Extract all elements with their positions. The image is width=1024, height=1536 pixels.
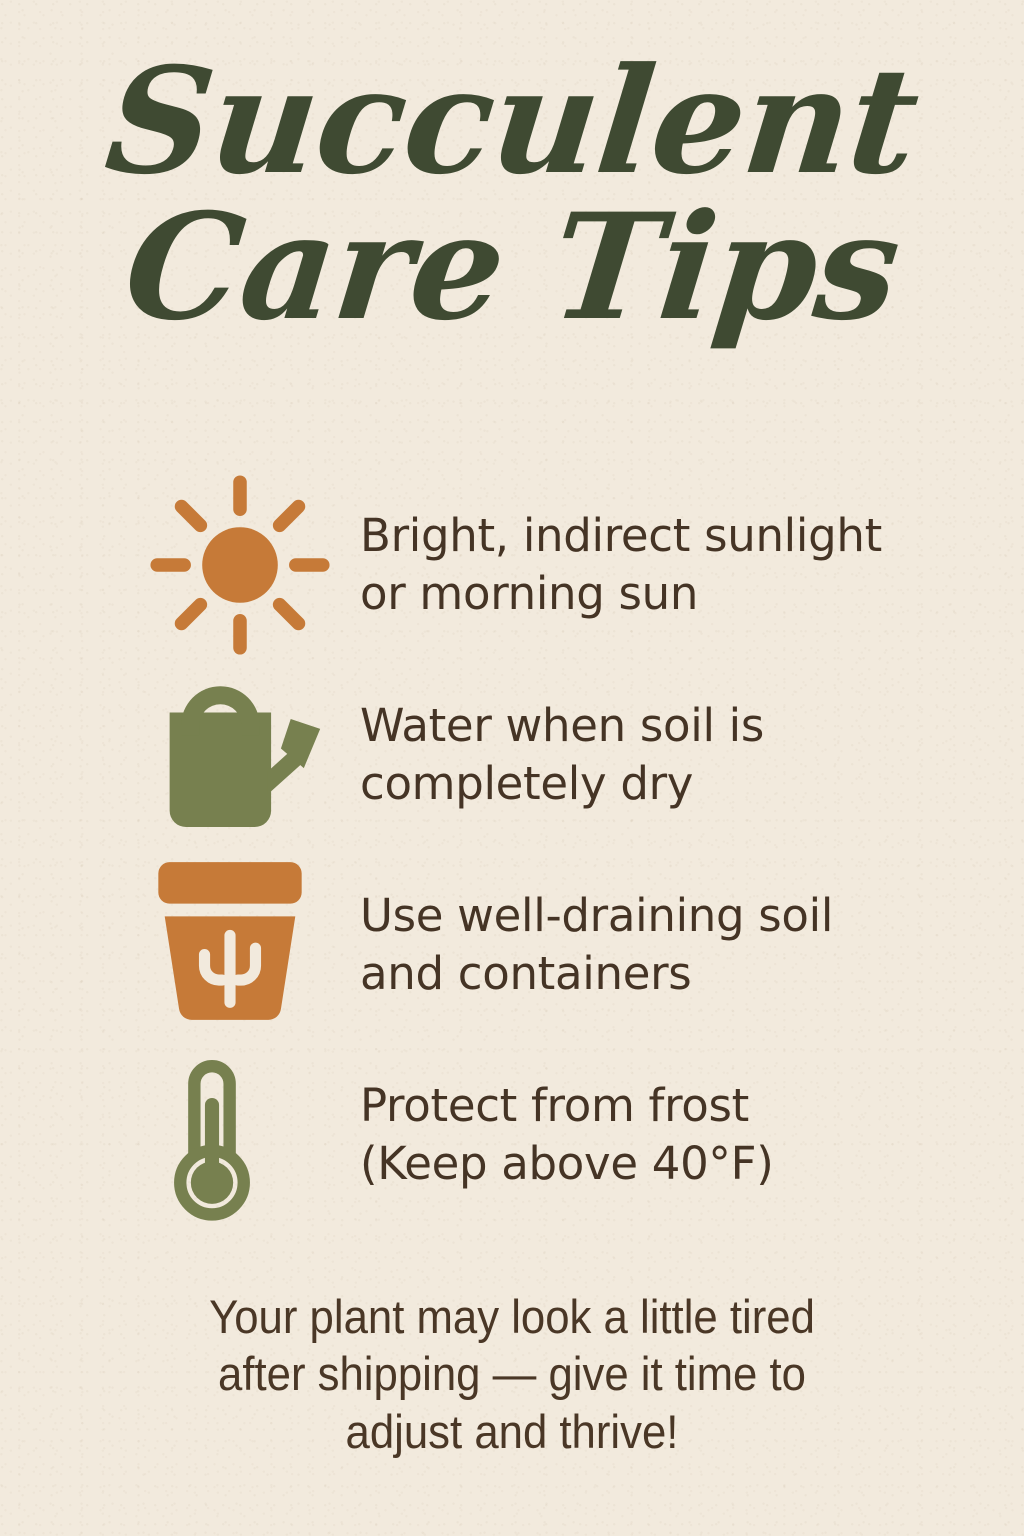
plant-pot-icon — [150, 859, 360, 1031]
title-line-2: Care Tips — [0, 198, 1024, 338]
footer-note: Your plant may look a little tired after… — [92, 1288, 933, 1460]
care-tips-list: Bright, indirect sunlight or morning sun — [0, 470, 1024, 1230]
succulent-care-tips-poster: Succulent Care Tips — [0, 0, 1024, 1536]
tip-row-soil: Use well-draining soil and containers — [0, 850, 1024, 1040]
thermometer-icon — [150, 1045, 360, 1225]
title-line-1: Succulent — [0, 52, 1024, 192]
tip-text-watering: Water when soil is completely dry — [360, 697, 764, 814]
page-title: Succulent Care Tips — [0, 52, 1024, 338]
sun-icon — [150, 475, 360, 655]
tip-row-sunlight: Bright, indirect sunlight or morning sun — [0, 470, 1024, 660]
tip-text-frost: Protect from frost (Keep above 40°F) — [360, 1077, 773, 1194]
watering-can-icon — [150, 673, 360, 837]
tip-row-watering: Water when soil is completely dry — [0, 660, 1024, 850]
tip-row-frost: Protect from frost (Keep above 40°F) — [0, 1040, 1024, 1230]
tip-text-sunlight: Bright, indirect sunlight or morning sun — [360, 507, 882, 624]
tip-text-soil: Use well-draining soil and containers — [360, 887, 833, 1004]
